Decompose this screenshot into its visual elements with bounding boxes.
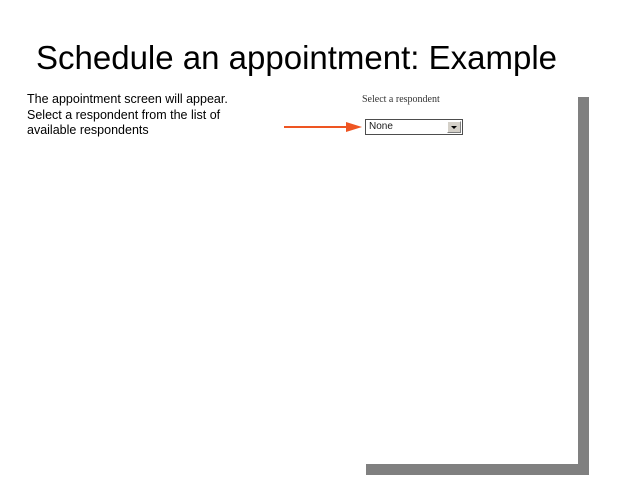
caret-shape — [451, 126, 457, 129]
slide: Schedule an appointment: Example The app… — [0, 0, 640, 480]
body-text: The appointment screen will appear. Sele… — [27, 92, 257, 139]
shadow-edge-bottom — [366, 464, 589, 475]
respondent-field-label: Select a respondent — [362, 94, 440, 106]
respondent-dropdown-value: None — [366, 120, 446, 134]
arrow-right-icon — [284, 121, 362, 133]
shadow-edge-right — [578, 97, 589, 464]
chevron-down-icon[interactable] — [447, 121, 461, 133]
respondent-dropdown[interactable]: None — [365, 119, 463, 135]
page-title: Schedule an appointment: Example — [36, 38, 611, 78]
